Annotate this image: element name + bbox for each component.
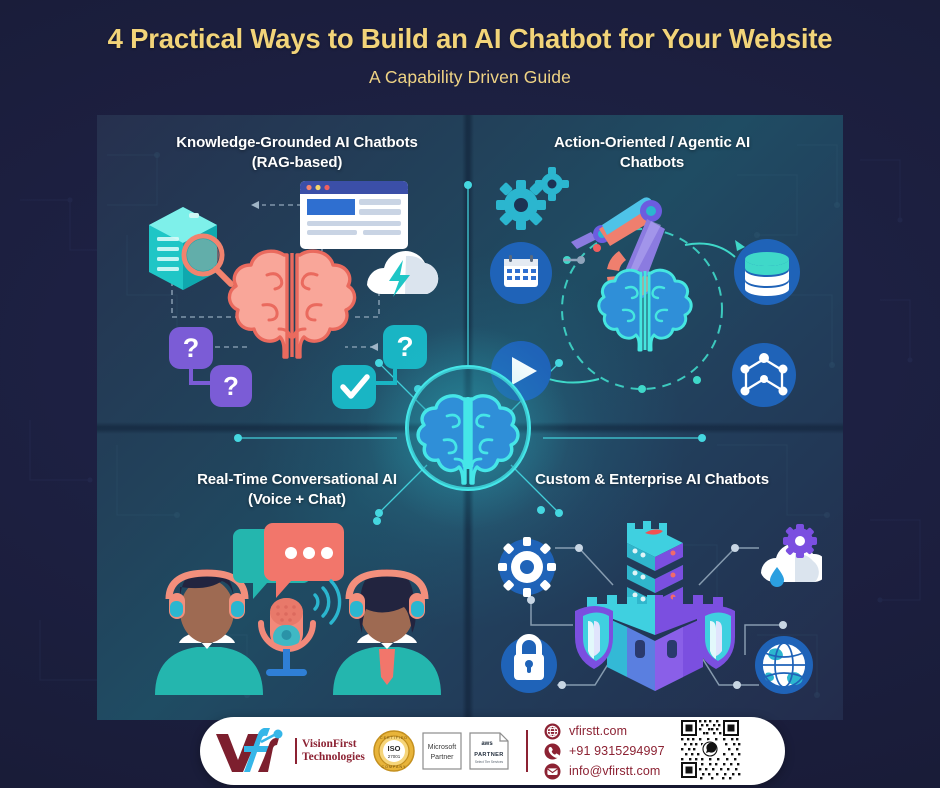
whatsapp-icon [701,740,719,758]
page-title: 4 Practical Ways to Build an AI Chatbot … [0,24,940,54]
gear-icon [496,167,569,230]
iso-badge-label: ISO [387,744,400,753]
headset-agent-icon [333,569,441,695]
logo-name-line2: Technologies [302,751,365,764]
aws-partner-line1: aws [481,741,493,747]
microsoft-partner-badge: Microsoft Partner [422,730,462,772]
quadrant-panel: Knowledge-Grounded AI Chatbots (RAG-base… [97,115,843,720]
header: 4 Practical Ways to Build an AI Chatbot … [0,0,940,88]
chat-bubble-icon [233,523,344,599]
brain-icon [599,270,691,350]
iso-badge-top-text: CERTIFIED [380,736,408,740]
iso-badge-number: 27001 [388,754,401,759]
infographic-canvas: 4 Practical Ways to Build an AI Chatbot … [0,0,940,788]
question-card-icon: ? [210,365,252,407]
svg-text:?: ? [223,371,239,401]
headset-agent-icon [155,569,263,695]
castle-server-icon [587,521,723,691]
illustration-real-time-conversational [137,515,457,710]
quadrant-title-line1: Knowledge-Grounded AI Chatbots [137,133,457,153]
iso-certified-badge: ISO 27001 CERTIFIED COMPANY [373,730,415,772]
contact-list: vfirstt.com +91 9315294997 info@vfirstt.… [544,723,665,780]
question-card-icon: ? [169,327,213,369]
logo-name-line1: VisionFirst [302,738,365,751]
database-cylinder-icon [734,239,800,305]
browser-window-icon [300,181,408,249]
gear-icon [498,537,556,597]
calendar-icon [490,242,552,304]
network-nodes-icon [732,343,796,407]
illustration-custom-enterprise [487,505,822,710]
footer-card: VisionFirst Technologies ISO 27001 CERTI… [200,717,785,785]
contact-phone-text: +91 9315294997 [569,744,665,758]
contact-email-text: info@vfirstt.com [569,764,660,778]
iso-badge-bottom-text: COMPANY [381,765,406,769]
globe-icon [544,723,561,740]
quadrant-title-line2: (RAG-based) [137,153,457,173]
footer-divider [526,730,528,772]
contact-email[interactable]: info@vfirstt.com [544,763,665,780]
aws-partner-line2: PARTNER [474,752,503,758]
visionfirst-logo-text: VisionFirst Technologies [295,738,365,764]
aws-partner-line3: Select Tier Services [475,760,504,764]
brain-icon [229,251,354,357]
page-subtitle: A Capability Driven Guide [0,67,940,88]
contact-website-text: vfirstt.com [569,724,627,738]
email-icon [544,763,561,780]
center-hub [399,359,537,497]
brand-block: VisionFirst Technologies [200,728,365,774]
cloud-gear-icon [761,524,822,587]
svg-text:?: ? [183,333,200,363]
aws-partner-badge: aws PARTNER Select Tier Services [469,730,509,772]
quadrant-title-knowledge-grounded: Knowledge-Grounded AI Chatbots (RAG-base… [137,133,457,174]
globe-icon [755,636,813,694]
visionfirst-logo-mark [214,728,286,774]
quadrant-title-line1: Action-Oriented / Agentic AI [487,133,817,153]
cloud-lightning-icon [367,251,438,297]
whatsapp-qr-code[interactable] [679,718,741,785]
microphone-icon [261,581,340,676]
certification-badges: ISO 27001 CERTIFIED COMPANY Microsoft Pa… [373,730,509,772]
lock-icon [501,637,557,693]
contact-website[interactable]: vfirstt.com [544,723,665,740]
microsoft-partner-line2: Partner [430,754,454,761]
microsoft-partner-line1: Microsoft [428,744,456,751]
phone-icon [544,743,561,760]
contact-phone[interactable]: +91 9315294997 [544,743,665,760]
